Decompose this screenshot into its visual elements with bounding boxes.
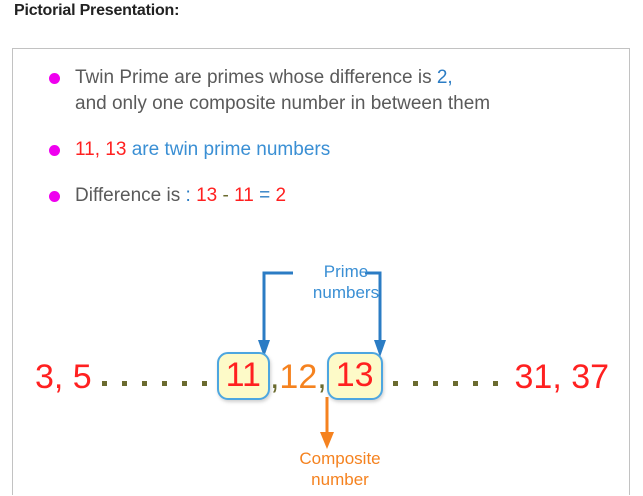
prime-numbers-label: Prime numbers xyxy=(291,261,401,303)
dot-icon xyxy=(433,381,438,386)
dot-icon xyxy=(493,381,498,386)
bullet-dot-icon xyxy=(49,191,60,202)
bullet-3-equals-sign: = xyxy=(259,185,270,206)
bullet-item-example: 11, 13 are twin prime numbers xyxy=(13,137,629,163)
comma-after-12: , xyxy=(317,358,326,397)
dot-icon xyxy=(182,381,187,386)
dot-icon xyxy=(102,381,107,386)
comma-after-11: , xyxy=(270,358,279,397)
leading-dots-group xyxy=(92,381,217,386)
number-line: 3, 5 11 , 12 , 13 31, 37 xyxy=(13,345,631,409)
bullet-3-right-operand: 11 xyxy=(234,185,254,206)
pictorial-presentation-panel: Twin Prime are primes whose difference i… xyxy=(12,48,630,495)
number-line-end: 31, 37 xyxy=(515,358,610,397)
page-title: Pictorial Presentation: xyxy=(14,2,179,20)
prime-label-line-1: Prime xyxy=(324,262,368,281)
bullet-list: Twin Prime are primes whose difference i… xyxy=(13,65,629,223)
dot-icon xyxy=(393,381,398,386)
number-line-start: 3, 5 xyxy=(35,358,92,397)
boxed-prime-13: 13 xyxy=(327,352,383,400)
dot-icon xyxy=(122,381,127,386)
bullet-3-result: 2 xyxy=(276,185,287,206)
boxed-prime-11: 11 xyxy=(217,352,270,400)
bullet-2-text: are twin prime numbers xyxy=(126,139,330,160)
bullet-3-label: Difference is xyxy=(75,185,186,206)
dot-icon xyxy=(473,381,478,386)
composite-number-label: Composite number xyxy=(281,448,399,490)
bullet-1-accent-number: 2, xyxy=(437,67,453,88)
bullet-2-numbers: 11, 13 xyxy=(75,139,126,160)
composite-label-line-1: Composite xyxy=(299,449,380,468)
bullet-3-minus-sign: - xyxy=(223,185,229,206)
dot-icon xyxy=(413,381,418,386)
bullet-1-line1-text: Twin Prime are primes whose difference i… xyxy=(75,67,437,88)
bullet-3-colon: : xyxy=(186,185,191,206)
composite-label-line-2: number xyxy=(311,470,369,489)
bullet-item-difference: Difference is : 13 - 11 = 2 xyxy=(13,183,629,209)
bullet-item-twin-prime-definition: Twin Prime are primes whose difference i… xyxy=(13,65,629,117)
left-prime-arrow-icon xyxy=(264,273,293,342)
dot-icon xyxy=(142,381,147,386)
bullet-3-left-operand: 13 xyxy=(196,185,217,206)
bullet-dot-icon xyxy=(49,145,60,156)
dot-icon xyxy=(162,381,167,386)
dot-icon xyxy=(453,381,458,386)
composite-number-12: 12 xyxy=(279,358,317,397)
bullet-1-line2-text: and only one composite number in between… xyxy=(75,93,490,114)
prime-label-line-2: numbers xyxy=(313,283,379,302)
dot-icon xyxy=(202,381,207,386)
composite-arrowhead-icon xyxy=(320,432,334,449)
bullet-dot-icon xyxy=(49,73,60,84)
trailing-dots-group xyxy=(383,381,508,386)
